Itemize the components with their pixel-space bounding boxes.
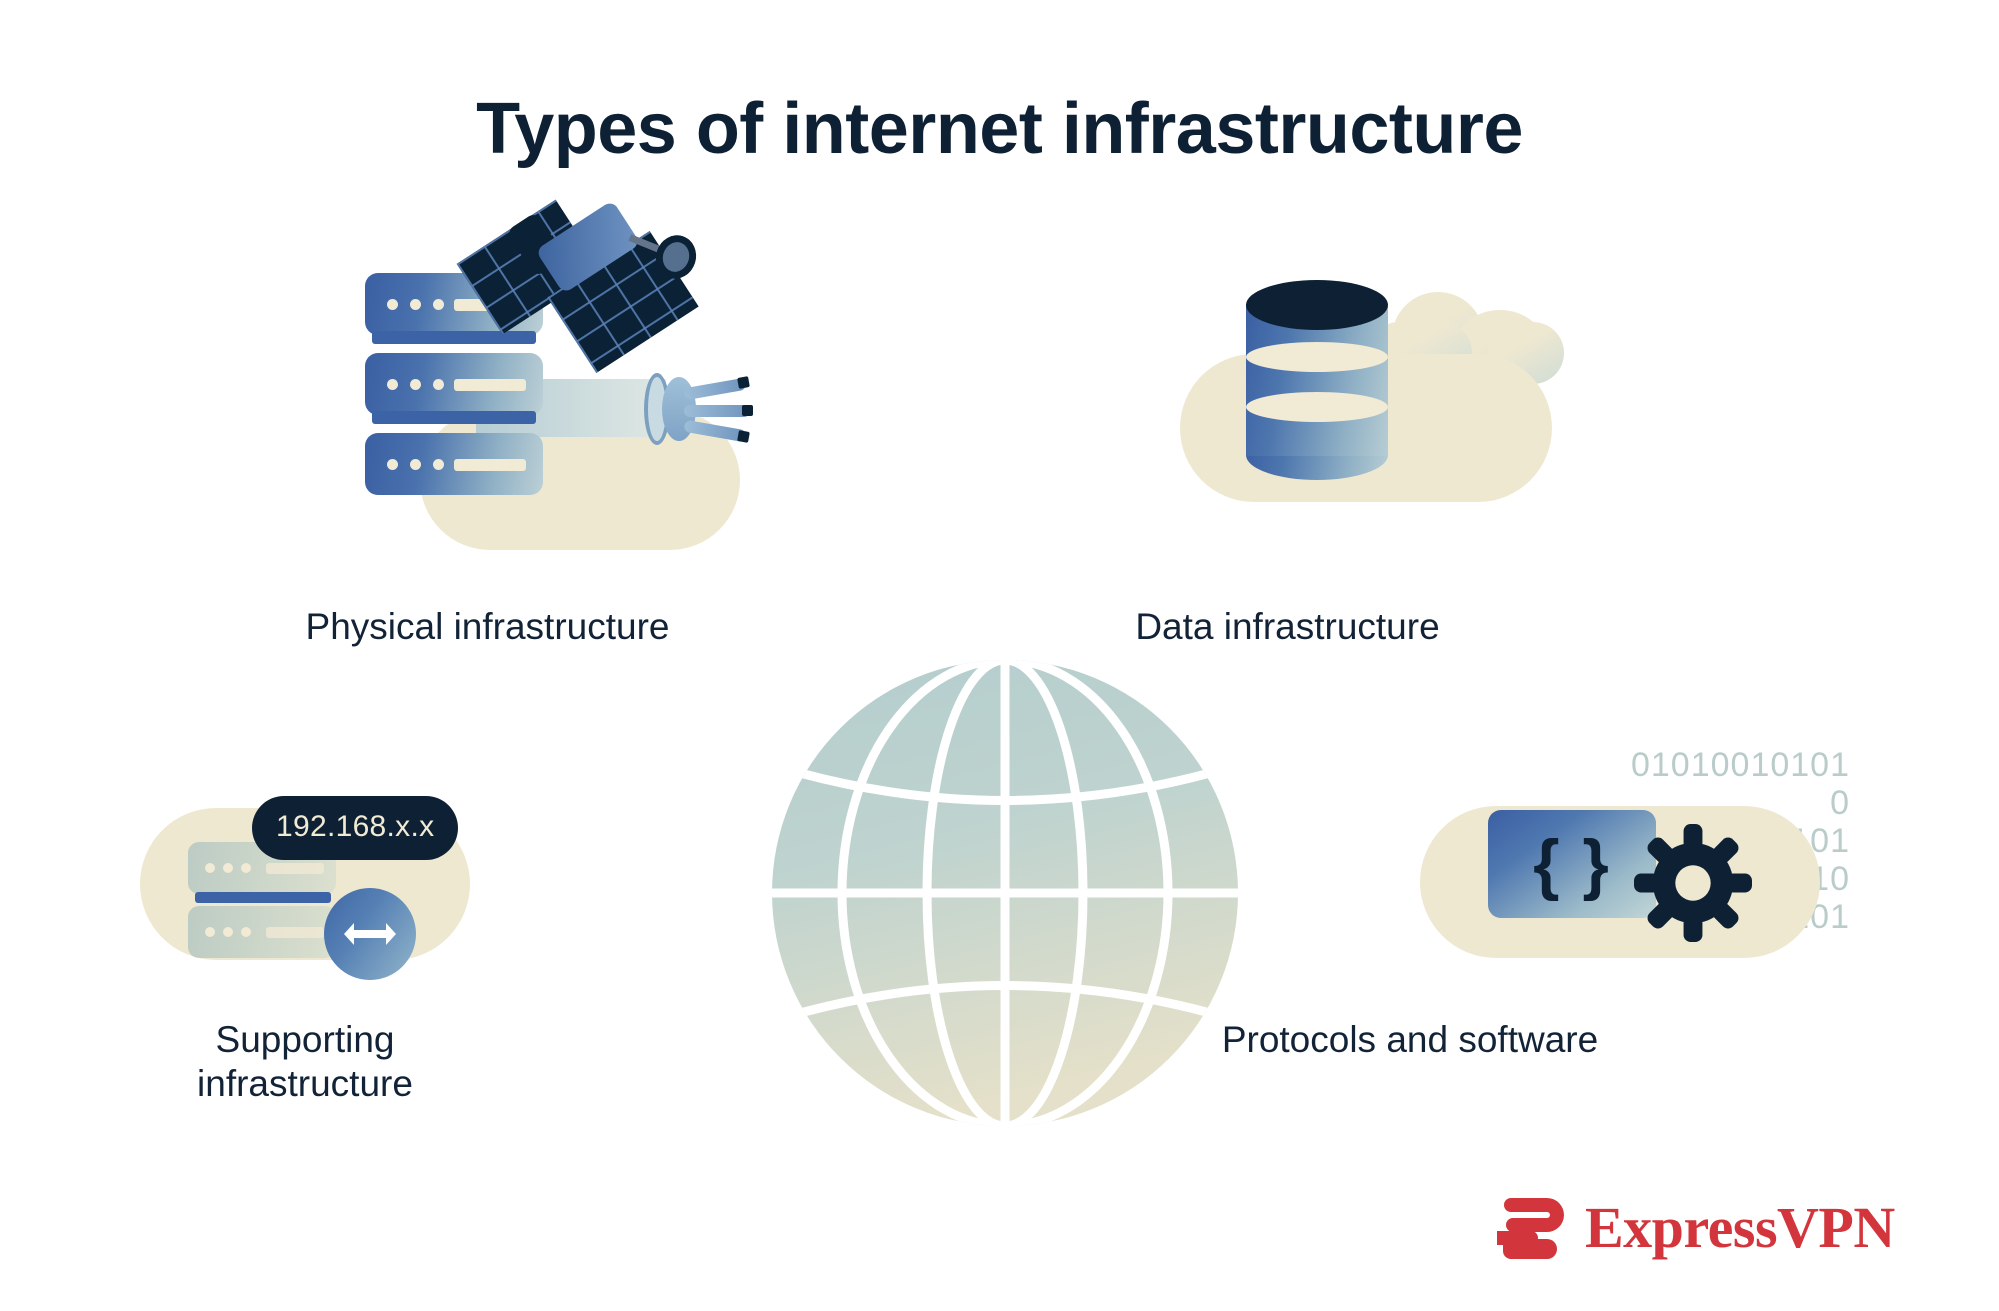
fiber-strand-tip bbox=[742, 405, 753, 416]
satellite-icon bbox=[460, 195, 760, 385]
physical-infrastructure-label: Physical infrastructure bbox=[205, 605, 770, 649]
server-rack-divider bbox=[372, 411, 536, 424]
gear-icon bbox=[1634, 824, 1752, 942]
physical-infrastructure-illustration bbox=[330, 195, 750, 575]
expressvpn-wordmark: ExpressVPN bbox=[1585, 1199, 1895, 1257]
fiber-strand-tip bbox=[737, 430, 750, 443]
ip-address-badge: 192.168.x.x bbox=[252, 796, 458, 860]
fiber-strand bbox=[684, 405, 750, 417]
server-rack-divider bbox=[195, 892, 331, 903]
supporting-infrastructure-illustration: 192.168.x.x bbox=[140, 760, 480, 990]
bidirectional-arrow-icon bbox=[324, 888, 416, 980]
globe-icon bbox=[772, 660, 1238, 1126]
database-band bbox=[1246, 392, 1388, 422]
expressvpn-e-icon bbox=[1495, 1195, 1569, 1261]
server-rack-icon bbox=[365, 433, 543, 495]
braces-glyph: { } bbox=[1488, 810, 1656, 918]
database-cylinder-icon bbox=[1246, 280, 1388, 480]
double-arrow-glyph bbox=[342, 921, 398, 947]
data-infrastructure-illustration bbox=[1168, 262, 1568, 562]
page-title: Types of internet infrastructure bbox=[0, 92, 1999, 168]
database-band bbox=[1246, 342, 1388, 372]
data-infrastructure-label: Data infrastructure bbox=[1005, 605, 1570, 649]
supporting-infrastructure-label: Supporting infrastructure bbox=[45, 1018, 565, 1105]
server-rack-icon bbox=[188, 906, 336, 958]
code-braces-icon: { } bbox=[1488, 810, 1656, 918]
database-top bbox=[1246, 280, 1388, 330]
infographic-canvas: Types of internet infrastructure bbox=[0, 0, 1999, 1311]
protocols-software-illustration: 01010010101 0 001010101 1010 101 { } bbox=[1420, 748, 1840, 978]
expressvpn-logo: ExpressVPN bbox=[1495, 1188, 1845, 1268]
